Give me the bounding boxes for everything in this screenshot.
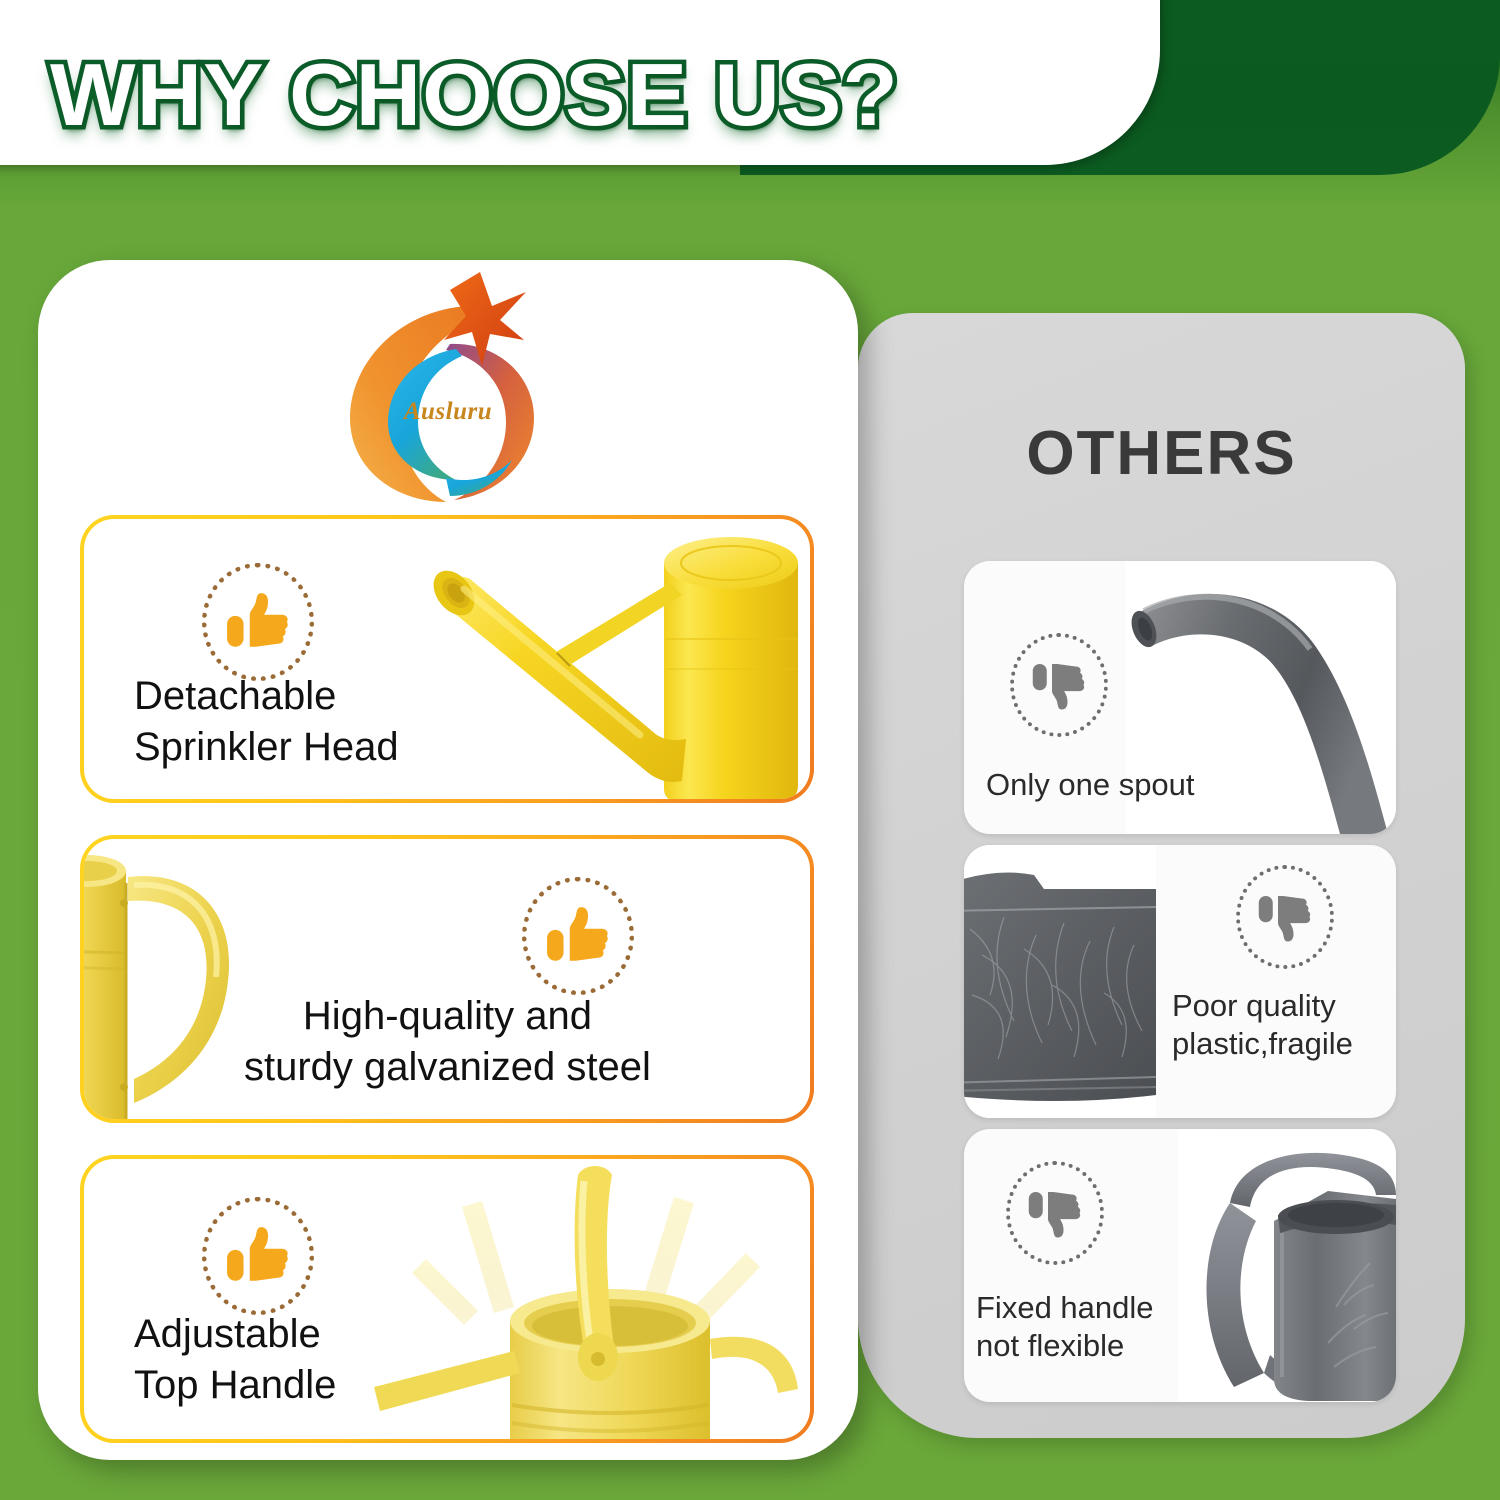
others-panel: OTHERS Only one spo [858,313,1465,1438]
thumbs-up-badge [202,563,314,681]
page-title: WHY CHOOSE US? [50,44,899,146]
yellow-adjustable-top-handle-image [374,1161,814,1443]
thumbs-down-badge [1010,633,1108,737]
thumbs-up-icon [225,589,291,655]
thumbs-down-icon [1031,657,1087,713]
thumbs-down-icon [1257,889,1313,945]
our-product-panel: Ausluru [38,260,858,1460]
feature-card-detachable-sprinkler-head[interactable]: Detachable Sprinkler Head [80,515,814,803]
feature-card-adjustable-top-handle[interactable]: Adjustable Top Handle [80,1155,814,1443]
feature-label: Detachable Sprinkler Head [134,671,399,773]
brand-logo-text: Ausluru [328,398,568,426]
brand-logo: Ausluru [328,270,568,505]
thumbs-up-badge [522,877,634,995]
feature-label: Adjustable Top Handle [134,1309,336,1411]
others-label: Only one spout [986,766,1195,804]
thumbs-down-badge [1006,1161,1104,1265]
thumbs-up-icon [225,1223,291,1289]
others-card-only-one-spout[interactable]: Only one spout [964,561,1396,834]
others-card-poor-quality-plastic[interactable]: Poor quality plastic,fragile [964,845,1396,1118]
others-label: Fixed handle not flexible [976,1289,1154,1365]
thumbs-up-icon [545,903,611,969]
gray-plastic-fixed-handle-can-image [1178,1129,1396,1402]
gray-scratched-plastic-surface-image [964,845,1156,1118]
others-title: OTHERS [858,418,1465,489]
others-label: Poor quality plastic,fragile [1172,987,1353,1063]
yellow-detachable-sprinkler-spout-image [394,519,814,803]
others-card-fixed-handle[interactable]: Fixed handle not flexible [964,1129,1396,1402]
feature-card-high-quality-steel[interactable]: High-quality and sturdy galvanized steel [80,835,814,1123]
thumbs-down-badge [1236,865,1334,969]
thumbs-down-icon [1027,1185,1083,1241]
thumbs-up-badge [202,1197,314,1315]
feature-label: High-quality and sturdy galvanized steel [244,991,651,1093]
swoosh-star-logo-icon [328,270,568,505]
